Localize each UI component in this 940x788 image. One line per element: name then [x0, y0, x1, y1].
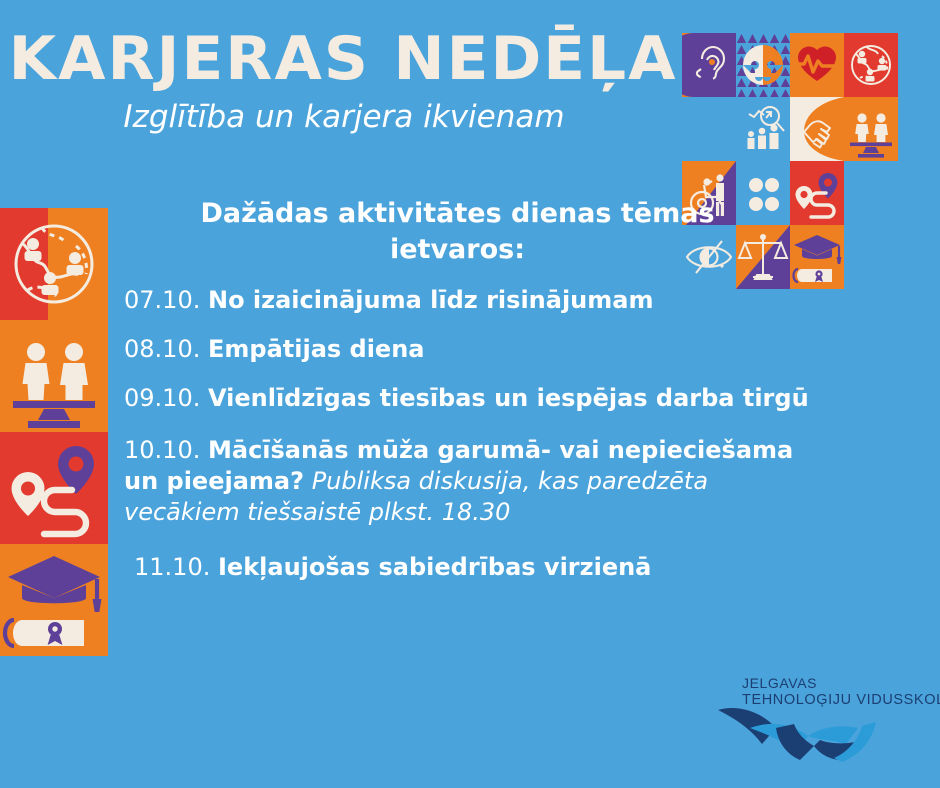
school-logo: JELGAVAS TEHNOLOĢIJU VIDUSSKOLA — [716, 676, 916, 766]
seesaw-equality-icon — [844, 97, 898, 161]
poster-header: KARJERAS NEDĒĻA Izglītība un karjera ikv… — [0, 28, 676, 135]
section-heading: Dažādas aktivitātes dienas tēmas ietvaro… — [120, 196, 820, 267]
event-date: 09.10. — [124, 384, 200, 412]
growth-chart-people-icon — [736, 97, 790, 161]
heart-pulse-icon — [790, 33, 844, 97]
list-item: 10.10. Mācīšanās mūža garumā- vai nepiec… — [120, 435, 820, 527]
event-title: Vienlīdzīgas tiesības un iespējas darba … — [208, 384, 809, 412]
list-item: 09.10. Vienlīdzīgas tiesības un iespējas… — [120, 383, 820, 414]
sidebar-icon-column — [0, 208, 108, 656]
mosaic-spacer-2 — [844, 161, 898, 225]
globe-people-icon — [844, 33, 898, 97]
sidebar-item-globe-people — [0, 208, 108, 320]
page-subtitle: Izglītība un karjera ikvienam — [0, 99, 676, 135]
poster-canvas: KARJERAS NEDĒĻA Izglītība un karjera ikv… — [0, 0, 940, 788]
list-item: 07.10. No izaicinājuma līdz risinājumam — [120, 285, 820, 316]
event-title: Empātijas diena — [208, 335, 425, 363]
event-title: Iekļaujošas sabiedrības virzienā — [218, 553, 651, 581]
event-date: 11.10. — [134, 553, 210, 581]
event-date: 07.10. — [124, 286, 200, 314]
sidebar-item-graduation-diploma — [0, 544, 108, 656]
mosaic-spacer — [682, 97, 736, 161]
event-list: 07.10. No izaicinājuma līdz risinājumam … — [120, 285, 820, 582]
event-date: 08.10. — [124, 335, 200, 363]
school-logo-line1: JELGAVAS — [742, 676, 940, 692]
list-item: 11.10. Iekļaujošas sabiedrības virzienā — [120, 552, 820, 583]
page-title: KARJERAS NEDĒĻA — [0, 28, 683, 91]
event-title: No izaicinājuma līdz risinājumam — [208, 286, 654, 314]
globe-puzzle-icon — [736, 33, 790, 97]
list-item: 08.10. Empātijas diena — [120, 334, 820, 365]
jtv-wave-mark-icon — [716, 702, 896, 764]
sidebar-item-seesaw-equality — [0, 320, 108, 432]
helping-hands-icon — [790, 97, 844, 161]
event-date: 10.10. — [124, 436, 200, 464]
sidebar-item-location-pins — [0, 432, 108, 544]
main-content: Dažādas aktivitātes dienas tēmas ietvaro… — [120, 196, 820, 600]
hearing-ear-icon — [682, 33, 736, 97]
